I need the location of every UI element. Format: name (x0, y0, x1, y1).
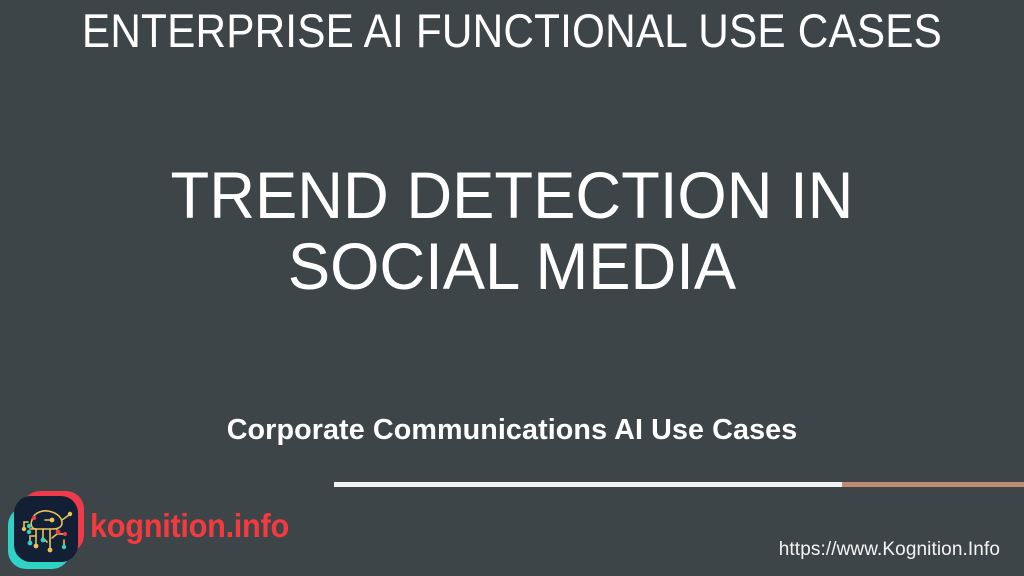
divider-rule (334, 482, 1024, 487)
slide-main-title: TREND DETECTION IN SOCIAL MEDIA (20, 160, 1003, 302)
circuit-brain-icon (6, 489, 88, 571)
slide-subtitle: Corporate Communications AI Use Cases (5, 414, 1019, 447)
main-title-line-1: TREND DETECTION IN (20, 160, 1003, 231)
divider-segment-tan (842, 482, 1024, 487)
slide-header-title: ENTERPRISE AI FUNCTIONAL USE CASES (51, 4, 973, 58)
footer-url[interactable]: https://www.Kognition.Info (779, 539, 1000, 561)
presentation-slide: ENTERPRISE AI FUNCTIONAL USE CASES TREND… (0, 0, 1024, 576)
brand-logo-text: kognition.info (90, 507, 289, 545)
brand-logo[interactable]: kognition.info (6, 489, 236, 573)
logo-chip-tile (14, 496, 78, 562)
divider-segment-white (334, 482, 842, 487)
main-title-line-2: SOCIAL MEDIA (20, 231, 1003, 302)
